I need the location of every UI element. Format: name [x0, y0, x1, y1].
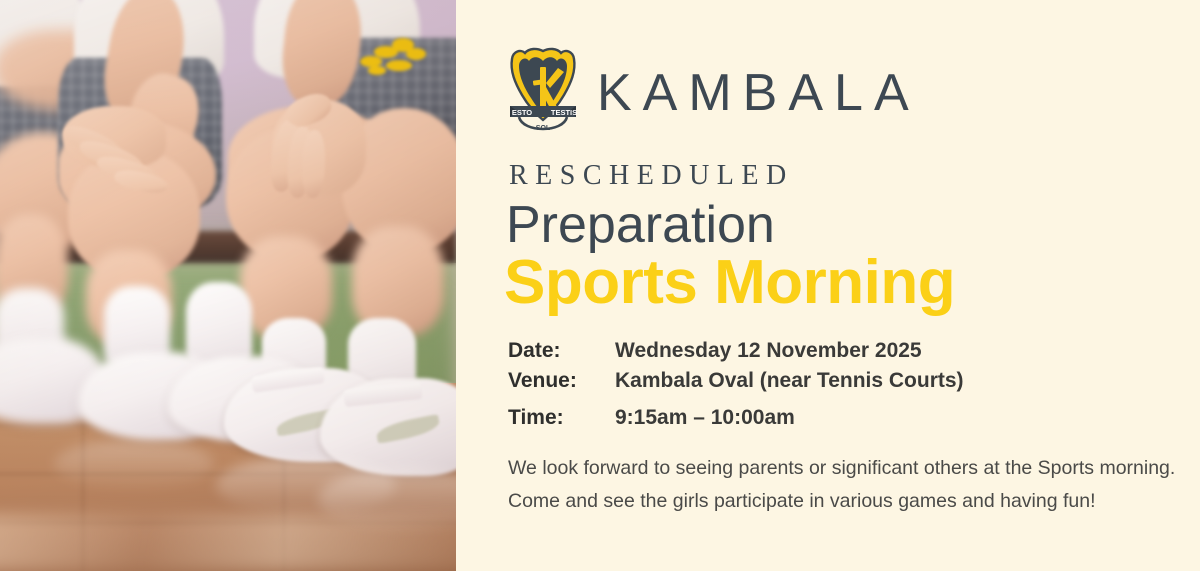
detail-row-venue: Venue: Kambala Oval (near Tennis Courts): [508, 366, 1148, 396]
detail-label-time: Time:: [508, 403, 615, 433]
photo-yellow-cord: [358, 34, 434, 78]
kambala-crest-icon: ESTO TESTIS SOL: [507, 47, 579, 139]
detail-value-time: 9:15am – 10:00am: [615, 403, 795, 433]
headline-secondary: Sports Morning: [504, 250, 955, 315]
photo-panel: [0, 0, 456, 571]
detail-label-venue: Venue:: [508, 366, 615, 396]
headline-primary: Preparation: [506, 198, 775, 253]
content-panel: ESTO TESTIS SOL KAMBALA RESCHEDULED Prep…: [456, 0, 1200, 571]
detail-row-time: Time: 9:15am – 10:00am: [508, 403, 1148, 433]
event-details: Date: Wednesday 12 November 2025 Venue: …: [508, 336, 1148, 432]
detail-label-date: Date:: [508, 336, 615, 366]
invitation-blurb: We look forward to seeing parents or sig…: [508, 452, 1200, 518]
kambala-wordmark: KAMBALA: [597, 67, 920, 119]
kicker-rescheduled: RESCHEDULED: [509, 160, 794, 192]
detail-value-venue: Kambala Oval (near Tennis Courts): [615, 366, 964, 396]
event-poster: ESTO TESTIS SOL KAMBALA RESCHEDULED Prep…: [0, 0, 1200, 571]
crest-motto-right: TESTIS: [551, 108, 577, 117]
crest-motto-left: ESTO: [512, 108, 532, 117]
kambala-logo: ESTO TESTIS SOL KAMBALA: [507, 47, 920, 139]
detail-value-date: Wednesday 12 November 2025: [615, 336, 922, 366]
blurb-line-2: Come and see the girls participate in va…: [508, 485, 1200, 518]
detail-row-date: Date: Wednesday 12 November 2025: [508, 336, 1148, 366]
students-on-bench-photo: [0, 0, 456, 571]
crest-motto-bottom: SOL: [536, 125, 551, 132]
blurb-line-1: We look forward to seeing parents or sig…: [508, 452, 1200, 485]
